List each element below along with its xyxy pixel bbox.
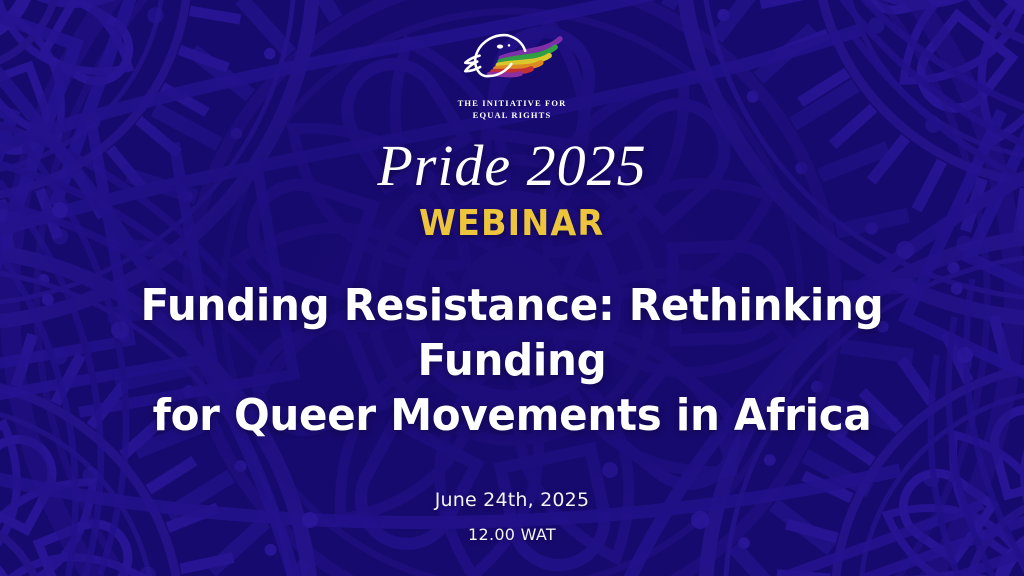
event-format-label: WEBINAR	[419, 206, 604, 242]
wordmark-line-2: EQUAL RIGHTS	[458, 109, 567, 121]
event-schedule: June 24th, 2025 12.00 WAT	[435, 491, 590, 543]
wordmark-line-1: THE INITIATIVE FOR	[458, 98, 567, 108]
event-series-title: Pride 2025	[377, 137, 646, 195]
eagle-head-rainbow-logo-icon	[452, 22, 572, 94]
webinar-promo-poster: THE INITIATIVE FOR EQUAL RIGHTS Pride 20…	[0, 0, 1024, 576]
event-headline: Funding Resistance: Rethinking Funding f…	[54, 278, 971, 443]
headline-line-2: for Queer Movements in Africa	[54, 388, 971, 443]
event-time: 12.00 WAT	[435, 527, 590, 543]
headline-line-1: Funding Resistance: Rethinking Funding	[54, 278, 971, 388]
event-date: June 24th, 2025	[435, 491, 590, 510]
poster-content: THE INITIATIVE FOR EQUAL RIGHTS Pride 20…	[0, 0, 1024, 576]
organization-wordmark: THE INITIATIVE FOR EQUAL RIGHTS	[458, 97, 567, 121]
organization-logo: THE INITIATIVE FOR EQUAL RIGHTS	[452, 22, 572, 121]
